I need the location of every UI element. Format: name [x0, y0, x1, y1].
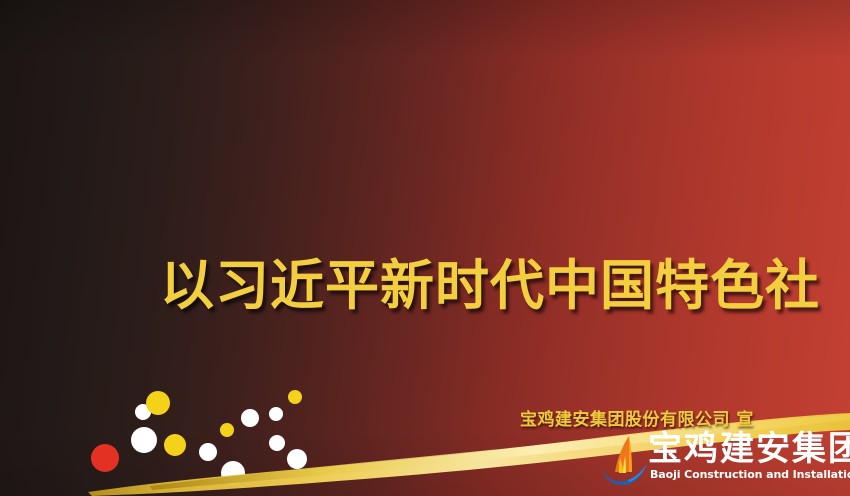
logo-english-name: Baoji Construction and Installation Grou…	[650, 468, 850, 481]
sail-flame-logo-icon	[598, 434, 650, 486]
headline-line-1: 以习近平新时代中国特色社	[0, 246, 850, 326]
company-logo-block: 宝鸡建安集团 Baoji Construction and Installati…	[598, 430, 850, 492]
publisher-text: 宝鸡建安集团股份有限公司 宣	[520, 405, 754, 430]
poster-canvas: 以习近平新时代中国特色社 会主义思想为指导，切实做好保 密工作。	[0, 0, 850, 496]
logo-chinese-name: 宝鸡建安集团	[648, 430, 850, 468]
